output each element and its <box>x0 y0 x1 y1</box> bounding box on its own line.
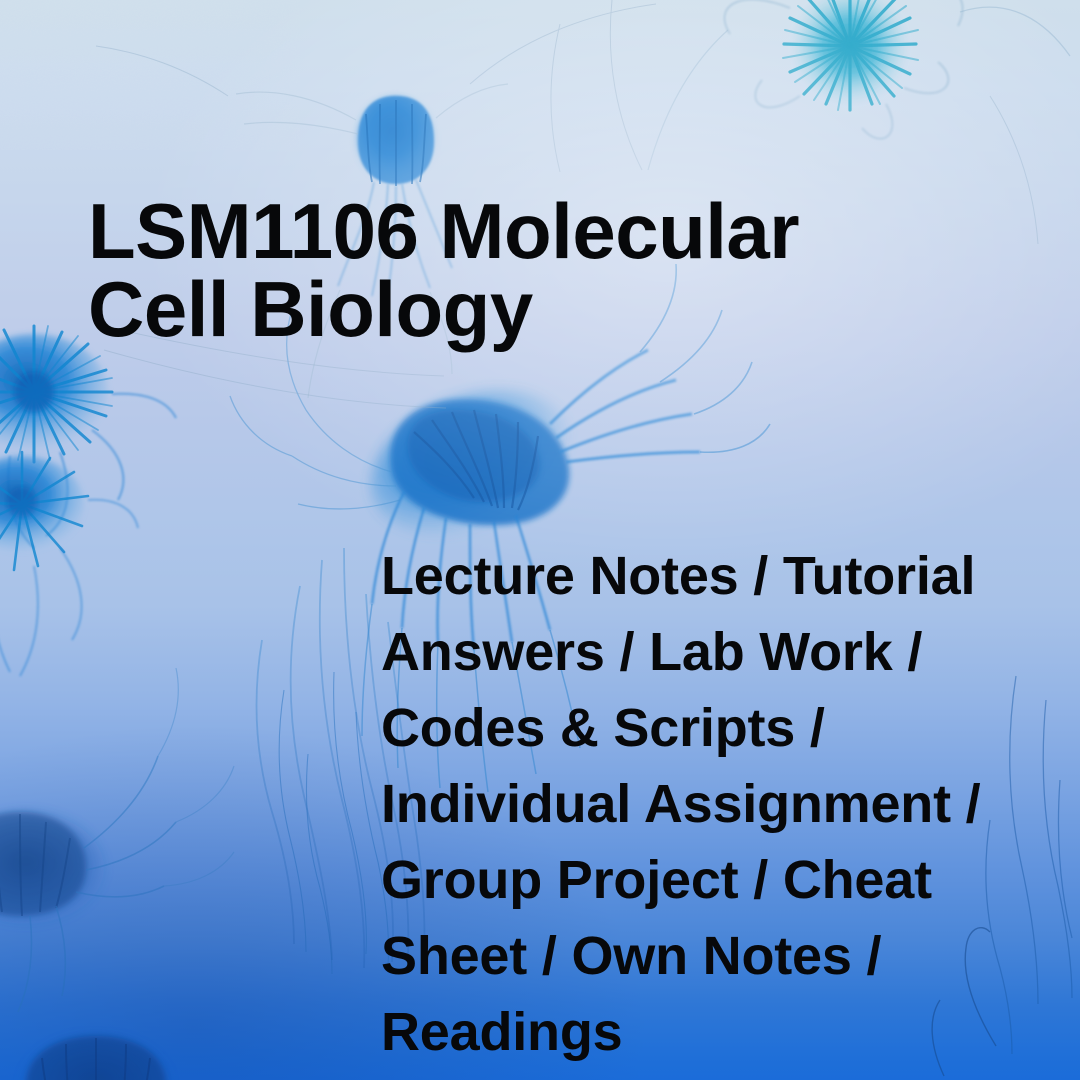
page-title: LSM1106 Molecular Cell Biology <box>88 192 908 348</box>
poster-canvas: LSM1106 Molecular Cell Biology Lecture N… <box>0 0 1080 1080</box>
film-grain <box>0 0 300 150</box>
contents-list: Lecture Notes / Tutorial Answers / Lab W… <box>381 538 1021 1070</box>
